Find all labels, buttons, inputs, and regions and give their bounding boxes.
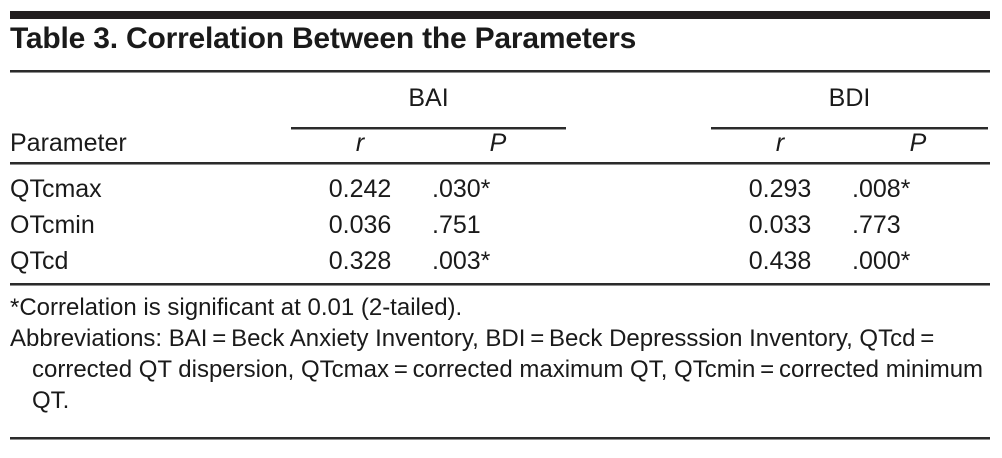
cell-bai-r: 0.242 [300,172,420,206]
spanner-rule-bdi [711,127,988,130]
table-figure: Table 3. Correlation Between the Paramet… [0,0,1002,458]
column-header-parameter: Parameter [10,131,127,156]
cell-bdi-r: 0.293 [720,172,840,206]
table-row: QTcmax 0.242 .030* 0.293 .008* [0,172,1002,208]
row-label: OTcmin [10,208,95,242]
table-footnotes: *Correlation is significant at 0.01 (2-t… [10,292,990,416]
title-rule [10,70,990,73]
cell-bai-p: .003* [432,244,552,278]
column-group-bai: BAI [291,86,566,111]
spanner-rule-bai [291,127,566,130]
row-label: QTcmax [10,172,102,206]
top-rule [10,11,990,19]
footnote-significance: *Correlation is significant at 0.01 (2-t… [10,292,990,323]
table-title: Table 3. Correlation Between the Paramet… [10,24,636,54]
cell-bai-r: 0.036 [300,208,420,242]
cell-bai-p: .030* [432,172,552,206]
column-header-bai-r: r [300,131,420,156]
table-row: QTcd 0.328 .003* 0.438 .000* [0,244,1002,280]
cell-bdi-p: .000* [852,244,972,278]
column-group-bdi: BDI [711,86,988,111]
footnote-abbreviations: Abbreviations: BAI = Beck Anxiety Invent… [10,323,990,416]
column-header-bdi-p: P [858,131,978,156]
column-header-bdi-r: r [720,131,840,156]
cell-bdi-r: 0.033 [720,208,840,242]
cell-bai-r: 0.328 [300,244,420,278]
table-row: OTcmin 0.036 .751 0.033 .773 [0,208,1002,244]
cell-bdi-r: 0.438 [720,244,840,278]
cell-bdi-p: .773 [852,208,972,242]
body-rule [10,283,990,286]
column-header-bai-p: P [438,131,558,156]
row-label: QTcd [10,244,68,278]
header-rule [10,162,990,165]
cell-bai-p: .751 [432,208,552,242]
bottom-rule [10,437,990,440]
cell-bdi-p: .008* [852,172,972,206]
